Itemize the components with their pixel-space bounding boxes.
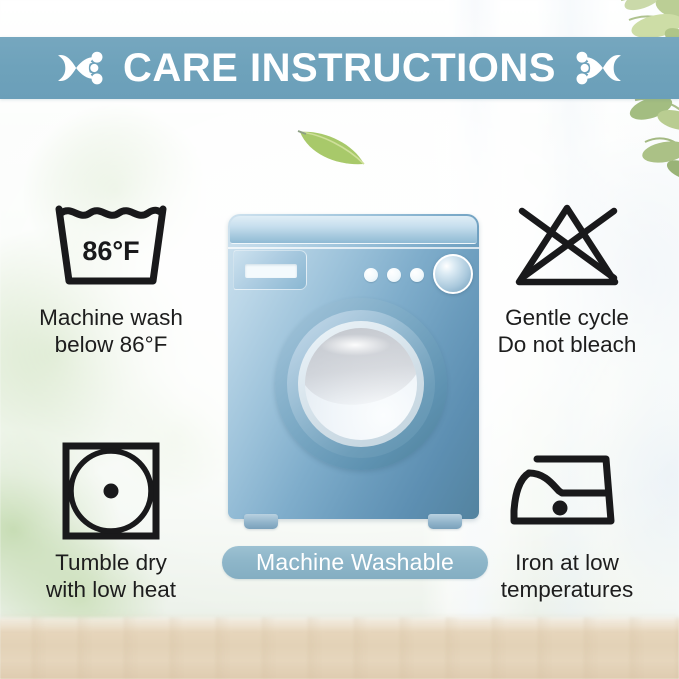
care-symbol-machine-wash: 86°F Machine wash below 86°F bbox=[6, 198, 216, 358]
detergent-drawer-slot bbox=[245, 264, 297, 278]
tumble-dry-square-icon bbox=[61, 441, 161, 541]
iron-icon-wrap bbox=[462, 443, 672, 539]
crossed-triangle-icon bbox=[508, 202, 626, 290]
door-glass bbox=[305, 328, 417, 440]
care-label-machine-wash: Machine wash below 86°F bbox=[6, 304, 216, 358]
wash-tub-icon: 86°F bbox=[52, 202, 170, 290]
indicator-light-3 bbox=[410, 268, 424, 282]
header-banner: CARE INSTRUCTIONS bbox=[0, 37, 679, 99]
care-label-do-not-bleach: Gentle cycle Do not bleach bbox=[462, 304, 672, 358]
indicator-light-2 bbox=[387, 268, 401, 282]
wash-tub-icon-wrap: 86°F bbox=[6, 198, 216, 294]
care-label-iron: Iron at low temperatures bbox=[462, 549, 672, 603]
wood-grain-texture bbox=[0, 617, 679, 679]
fleur-de-lis-icon-left bbox=[49, 46, 107, 90]
machine-washable-label: Machine Washable bbox=[256, 551, 454, 574]
machine-washable-badge: Machine Washable bbox=[222, 546, 488, 579]
iron-icon bbox=[507, 449, 627, 533]
care-symbol-tumble-dry: Tumble dry with low heat bbox=[6, 443, 216, 603]
crossed-triangle-icon-wrap bbox=[462, 198, 672, 294]
program-dial-knob bbox=[433, 254, 473, 294]
care-label-tumble-dry: Tumble dry with low heat bbox=[6, 549, 216, 603]
care-symbol-iron: Iron at low temperatures bbox=[462, 443, 672, 603]
machine-top-lid bbox=[230, 216, 477, 244]
machine-foot-right bbox=[428, 514, 462, 529]
door-glass-highlight bbox=[319, 334, 391, 356]
machine-body bbox=[228, 214, 479, 519]
machine-panel-divider bbox=[228, 247, 479, 249]
care-instructions-graphic: CARE INSTRUCTIONS 86°F Machine wash belo… bbox=[0, 0, 679, 679]
floating-leaf-icon bbox=[296, 122, 368, 170]
door-ring-outer bbox=[287, 310, 435, 458]
wash-temperature-value: 86°F bbox=[82, 236, 139, 266]
tumble-dry-icon-wrap bbox=[6, 443, 216, 539]
page-title: CARE INSTRUCTIONS bbox=[123, 48, 556, 88]
care-symbol-do-not-bleach: Gentle cycle Do not bleach bbox=[462, 198, 672, 358]
machine-door bbox=[275, 298, 447, 470]
detergent-drawer bbox=[233, 250, 307, 290]
washing-machine-illustration bbox=[228, 214, 479, 531]
door-ring-inner bbox=[298, 321, 424, 447]
indicator-light-1 bbox=[364, 268, 378, 282]
machine-foot-left bbox=[244, 514, 278, 529]
fleur-de-lis-icon-right bbox=[572, 46, 630, 90]
